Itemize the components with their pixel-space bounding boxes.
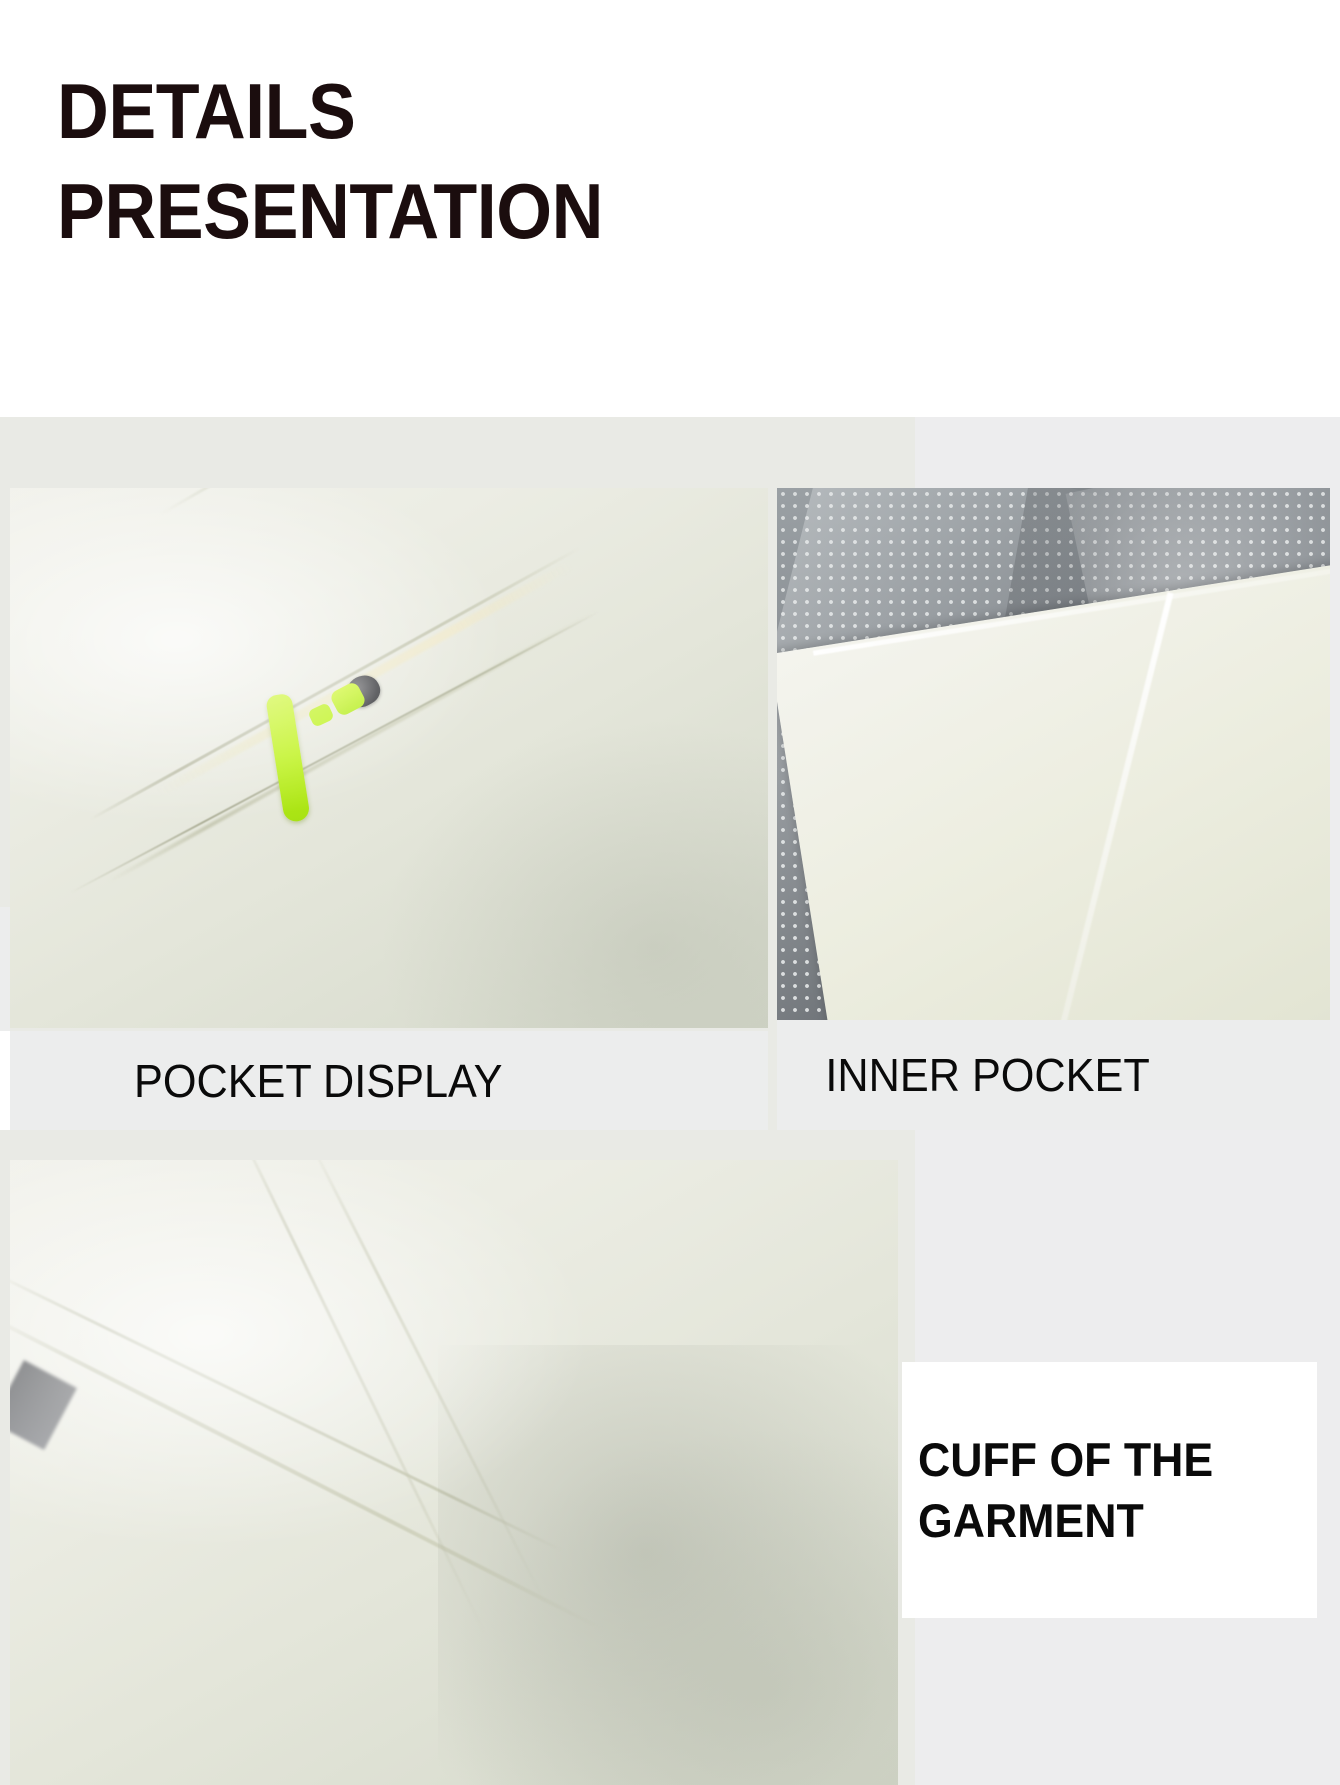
page-title: DETAILS PRESENTATION (57, 62, 885, 262)
caption-cuff-of-garment-label: CUFF OF THE GARMENT (918, 1429, 1213, 1551)
heading-section: DETAILS PRESENTATION (0, 0, 1340, 417)
details-stage: POCKET DISPLAY INNER POCKET CUFF OF THE … (0, 417, 1340, 1785)
caption-card-cuff-of-garment: CUFF OF THE GARMENT (902, 1362, 1317, 1618)
photo-pocket-display[interactable] (10, 488, 768, 1028)
caption-inner-pocket: INNER POCKET (777, 1020, 1330, 1130)
caption-pocket-display-label: POCKET DISPLAY (134, 1054, 502, 1108)
caption-left-gap (0, 1031, 10, 1130)
caption-inner-pocket-label: INNER POCKET (722, 1048, 1150, 1102)
fabric-sheen-overlay (10, 488, 768, 1028)
photo-inner-pocket[interactable] (777, 488, 1330, 1028)
caption-pocket-display: POCKET DISPLAY (10, 1031, 768, 1130)
left-edge-filler (0, 907, 10, 1031)
fabric-sheen-overlay (10, 1160, 898, 1785)
photo-cuff-of-garment[interactable] (10, 1160, 898, 1785)
